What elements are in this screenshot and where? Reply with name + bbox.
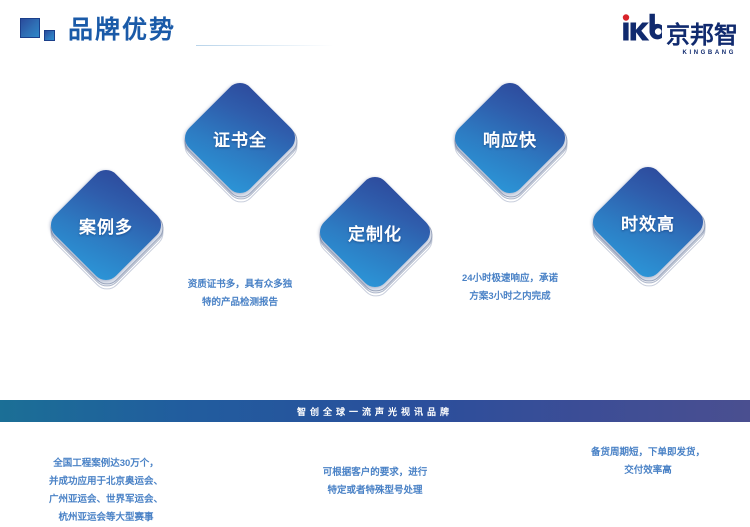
diamond-face (179, 77, 301, 199)
diamond-shape: 时效高 (588, 162, 708, 282)
footer-bar: 智创全球一流声光视讯品牌 (0, 400, 750, 422)
advantage-card-5-description: 备货周期短，下单即发货， 交付效率高 (578, 444, 718, 480)
advantage-card-3-description: 可根据客户的要求，进行 特定或者特殊型号处理 (302, 464, 448, 500)
advantage-card-4[interactable]: 响应快 24小时极速响应，承诺 方案3小时之内完成 (450, 78, 570, 198)
diamond-face (587, 161, 709, 283)
advantage-card-2-description: 资质证书多，具有众多独 特的产品检测报告 (171, 276, 309, 312)
logo-latin-name: KINGBANG (683, 49, 736, 57)
diamond-shape: 响应快 (450, 78, 570, 198)
logo-chinese-name: 京邦智 KINGBANG (666, 24, 738, 48)
diamond-shape: 证书全 (180, 78, 300, 198)
footer-slogan: 智创全球一流声光视讯品牌 (297, 405, 453, 418)
diamond-face (45, 164, 167, 286)
diamond-face (449, 77, 571, 199)
advantage-card-1[interactable]: 案例多 全国工程案例达30万个， 并成功应用于北京奥运会、 广州亚运会、世界军运… (46, 165, 166, 285)
advantage-card-1-description: 全国工程案例达30万个， 并成功应用于北京奥运会、 广州亚运会、世界军运会、 杭… (30, 455, 182, 527)
logo-chinese-name-text: 京邦智 (666, 22, 738, 49)
diamond-shape: 定制化 (315, 172, 435, 292)
advantage-card-4-description: 24小时极速响应，承诺 方案3小时之内完成 (439, 270, 581, 306)
diamond-face (314, 171, 436, 293)
page-title: 品牌优势 (68, 14, 176, 46)
brand-logo: 京邦智 KINGBANG (618, 14, 738, 48)
advantage-card-2[interactable]: 证书全 资质证书多，具有众多独 特的产品检测报告 (180, 78, 300, 198)
header-divider (196, 45, 334, 46)
page-header: 品牌优势 京邦智 KINGBANG (0, 0, 750, 60)
decoration-square-small-icon (44, 30, 55, 41)
logo-kb-mark-icon (618, 13, 662, 48)
diamond-shape: 案例多 (46, 165, 166, 285)
decoration-square-large-icon (20, 18, 40, 38)
advantage-card-5[interactable]: 时效高 备货周期短，下单即发货， 交付效率高 (588, 162, 708, 282)
advantage-card-3[interactable]: 定制化 可根据客户的要求，进行 特定或者特殊型号处理 (315, 172, 435, 292)
